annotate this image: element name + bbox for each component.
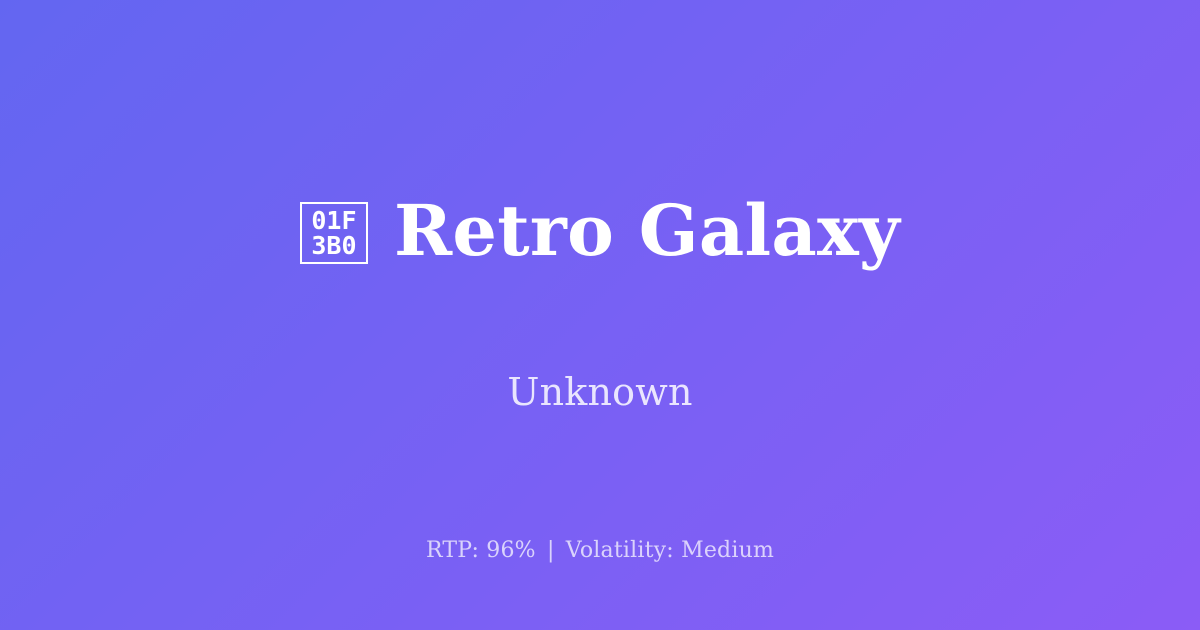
game-meta-footer: RTP: 96% | Volatility: Medium [0,540,1200,562]
volatility-value: Medium [681,538,774,563]
page-title: Retro Galaxy [394,196,900,266]
game-preview-card: 01F 3B0 Retro Galaxy Unknown RTP: 96% | … [0,0,1200,630]
meta-separator: | [543,538,559,563]
tofu-codepoint-line-top: 01F [311,208,356,234]
rtp-label: RTP: [426,538,479,563]
volatility-label: Volatility: [566,538,674,563]
title-row: 01F 3B0 Retro Galaxy [300,149,900,313]
tofu-codepoint-line-bottom: 3B0 [311,233,356,259]
hero-section: 01F 3B0 Retro Galaxy Unknown [0,0,1200,630]
rtp-value: 96% [486,538,536,563]
game-provider-subtitle: Unknown [507,373,692,411]
slot-machine-icon: 01F 3B0 [300,202,368,264]
